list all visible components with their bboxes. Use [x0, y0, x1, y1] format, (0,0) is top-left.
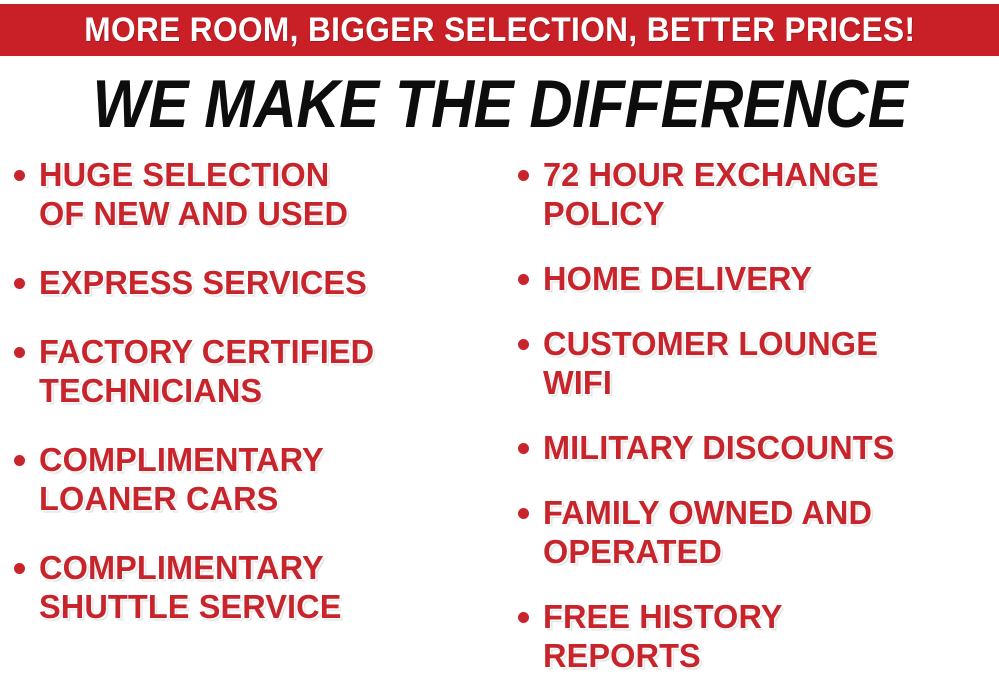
list-item-label: FAMILY OWNED AND OPERATED — [543, 493, 992, 571]
list-item-label: COMPLIMENTARY SHUTTLE SERVICE — [39, 548, 497, 626]
benefits-column-right: 72 HOUR EXCHANGE POLICY HOME DELIVERY CU… — [518, 155, 999, 692]
list-item: FREE HISTORY REPORTS — [518, 597, 999, 675]
list-item-label: CUSTOMER LOUNGE WIFI — [543, 324, 992, 402]
list-item: HUGE SELECTION OF NEW AND USED — [14, 155, 504, 233]
headline-text: WE MAKE THE DIFFERENCE — [92, 68, 907, 140]
round-bullet-icon — [518, 443, 529, 454]
round-bullet-icon — [14, 278, 25, 289]
list-item: COMPLIMENTARY LOANER CARS — [14, 440, 504, 518]
benefits-column-left: HUGE SELECTION OF NEW AND USED EXPRESS S… — [14, 155, 504, 692]
round-bullet-icon — [14, 563, 25, 574]
list-item-label: FACTORY CERTIFIED TECHNICIANS — [39, 332, 497, 410]
round-bullet-icon — [518, 274, 529, 285]
round-bullet-icon — [14, 455, 25, 466]
list-item: CUSTOMER LOUNGE WIFI — [518, 324, 999, 402]
headline: WE MAKE THE DIFFERENCE — [0, 68, 999, 140]
list-item-label: COMPLIMENTARY LOANER CARS — [39, 440, 497, 518]
round-bullet-icon — [14, 170, 25, 181]
list-item: FACTORY CERTIFIED TECHNICIANS — [14, 332, 504, 410]
round-bullet-icon — [518, 612, 529, 623]
round-bullet-icon — [518, 508, 529, 519]
list-item: HOME DELIVERY — [518, 259, 999, 298]
list-item: FAMILY OWNED AND OPERATED — [518, 493, 999, 571]
list-item: COMPLIMENTARY SHUTTLE SERVICE — [14, 548, 504, 626]
benefits-columns: HUGE SELECTION OF NEW AND USED EXPRESS S… — [0, 155, 999, 692]
list-item: EXPRESS SERVICES — [14, 263, 504, 302]
list-item-label: HUGE SELECTION OF NEW AND USED — [39, 155, 497, 233]
list-item-label: 72 HOUR EXCHANGE POLICY — [543, 155, 992, 233]
promo-banner-text: MORE ROOM, BIGGER SELECTION, BETTER PRIC… — [84, 13, 915, 47]
list-item: 72 HOUR EXCHANGE POLICY — [518, 155, 999, 233]
promo-banner: MORE ROOM, BIGGER SELECTION, BETTER PRIC… — [0, 4, 999, 56]
list-item-label: EXPRESS SERVICES — [39, 263, 497, 302]
list-item-label: FREE HISTORY REPORTS — [543, 597, 992, 675]
round-bullet-icon — [518, 339, 529, 350]
list-item: MILITARY DISCOUNTS — [518, 428, 999, 467]
list-item-label: HOME DELIVERY — [543, 259, 992, 298]
advertisement-poster: MORE ROOM, BIGGER SELECTION, BETTER PRIC… — [0, 0, 999, 692]
round-bullet-icon — [14, 347, 25, 358]
list-item-label: MILITARY DISCOUNTS — [543, 428, 992, 467]
round-bullet-icon — [518, 170, 529, 181]
